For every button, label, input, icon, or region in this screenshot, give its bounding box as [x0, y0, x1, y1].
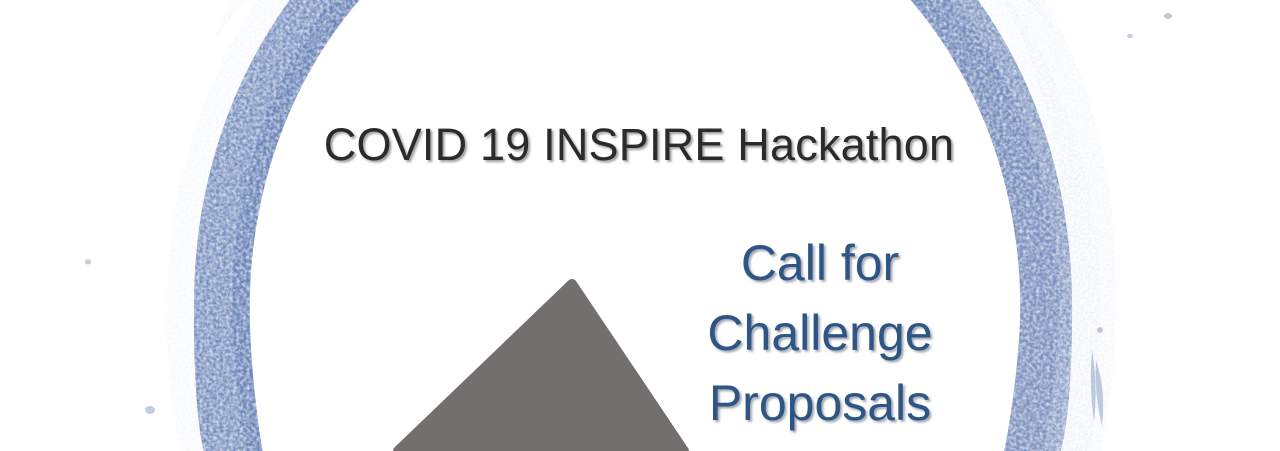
triangle-icon	[0, 0, 1280, 451]
page-title: COVID 19 INSPIRE Hackathon	[0, 122, 1279, 167]
slide-canvas: COVID 19 INSPIRE Hackathon Call for Chal…	[0, 0, 1280, 451]
subtitle-line-1: Call for	[660, 228, 980, 298]
brush-speck-icon	[85, 13, 1172, 426]
call-for-proposals-heading: Call for Challenge Proposals	[660, 228, 980, 438]
subtitle-line-3: Proposals	[660, 368, 980, 438]
subtitle-line-2: Challenge	[660, 298, 980, 368]
brush-circle-icon	[0, 0, 1280, 451]
